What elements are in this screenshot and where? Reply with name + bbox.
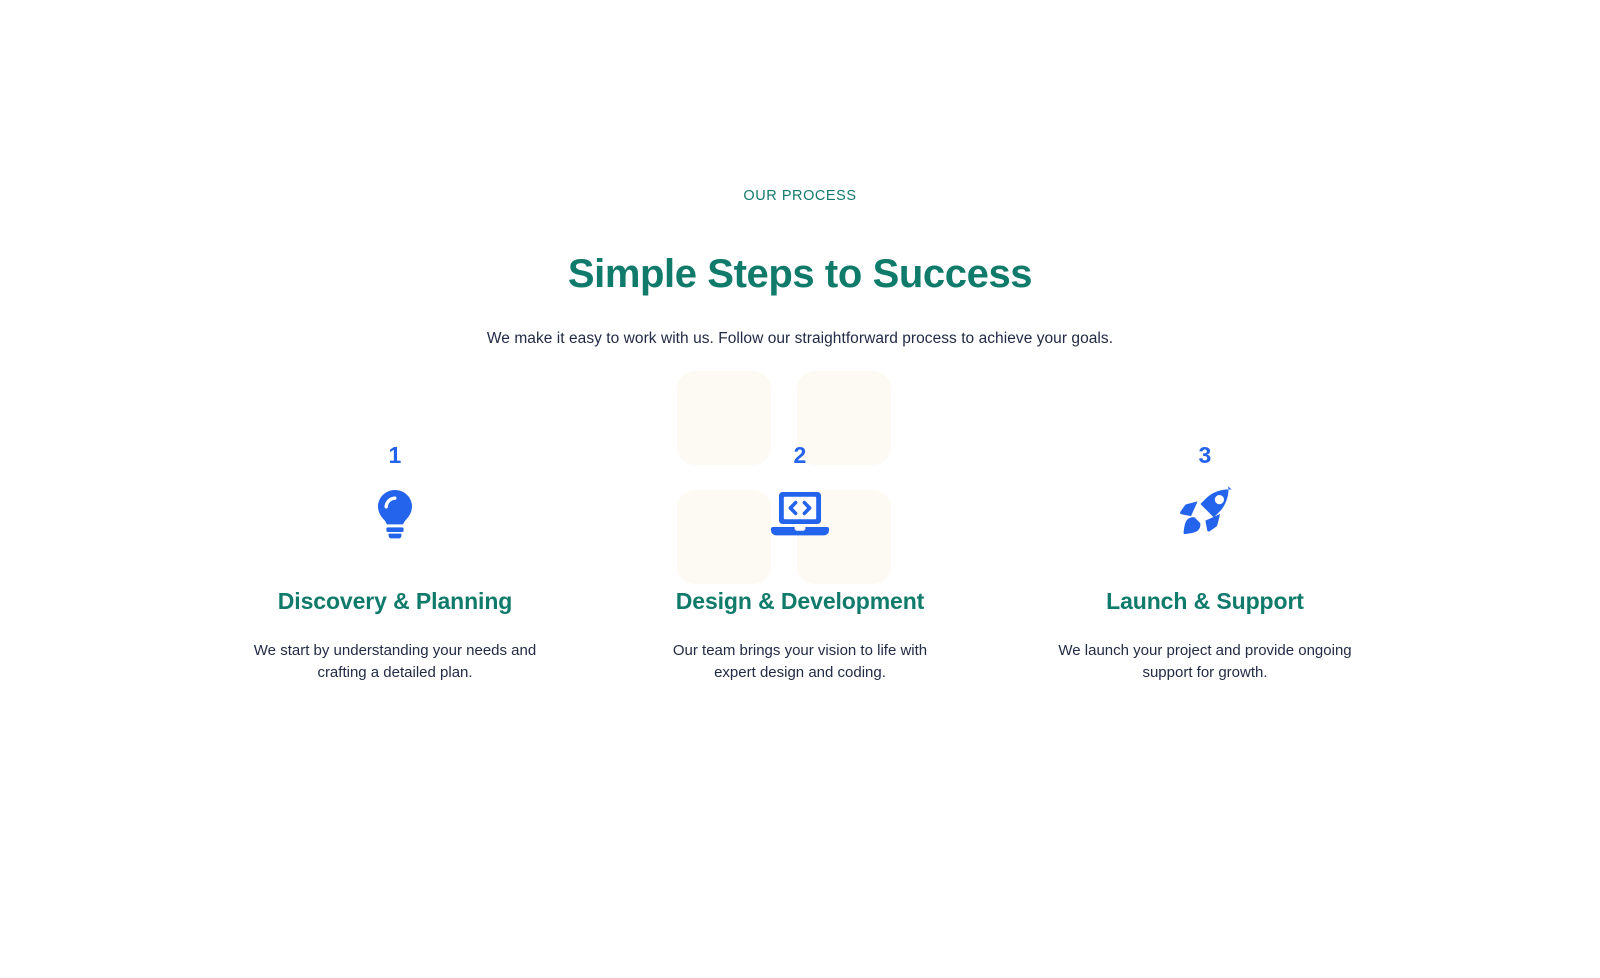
step-description-3: We launch your project and provide ongoi… — [1055, 640, 1355, 684]
step-number-1: 1 — [193, 440, 598, 470]
step-card-1: 1 Discovery & Planning We start by under… — [193, 440, 598, 684]
step-description-1: We start by understanding your needs and… — [245, 640, 545, 684]
step-card-2: 2 Design & Development Our team brings y… — [598, 440, 1003, 684]
laptop-code-icon — [598, 484, 1003, 544]
section-header: OUR PROCESS Simple Steps to Success We m… — [0, 186, 1600, 350]
page-title: Simple Steps to Success — [0, 250, 1600, 298]
steps-row: 1 Discovery & Planning We start by under… — [0, 440, 1600, 684]
step-description-2: Our team brings your vision to life with… — [650, 640, 950, 684]
section-subtitle: We make it easy to work with us. Follow … — [0, 328, 1600, 350]
rocket-icon — [1003, 484, 1408, 544]
step-title-1: Discovery & Planning — [193, 586, 598, 616]
process-section: OUR PROCESS Simple Steps to Success We m… — [0, 0, 1600, 978]
lightbulb-icon — [193, 484, 598, 544]
step-title-3: Launch & Support — [1003, 586, 1408, 616]
step-card-3: 3 Launch & Support We launch your projec… — [1003, 440, 1408, 684]
step-title-2: Design & Development — [598, 586, 1003, 616]
section-eyebrow: OUR PROCESS — [0, 186, 1600, 206]
step-number-3: 3 — [1003, 440, 1408, 470]
step-number-2: 2 — [598, 440, 1003, 470]
